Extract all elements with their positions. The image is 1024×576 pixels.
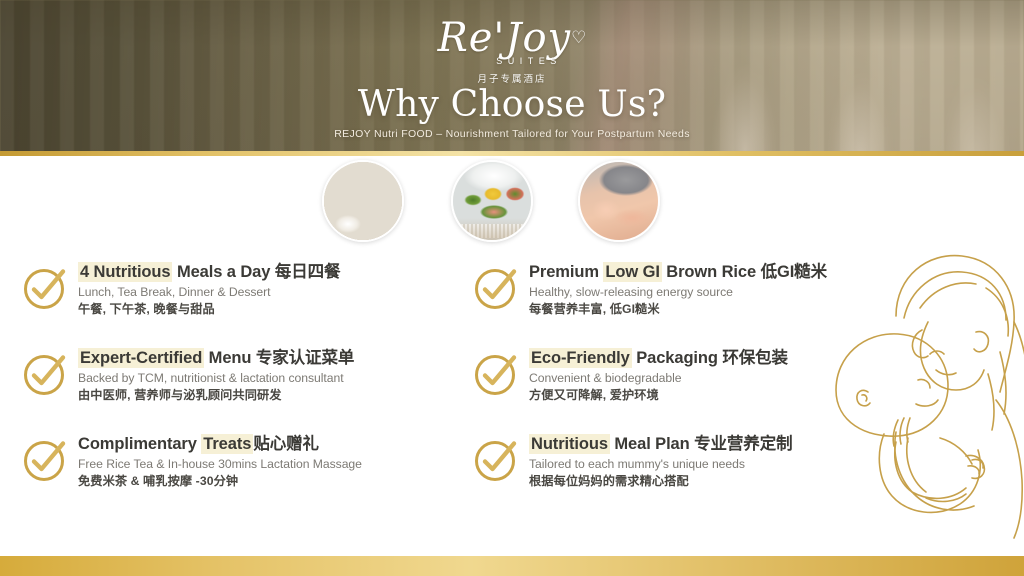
feature-title: Premium Low GI Brown Rice 低GI糙米 bbox=[529, 262, 923, 282]
feature-item-treats: Complimentary Treats贴心赠礼 Free Rice Tea &… bbox=[22, 434, 472, 520]
logo-suites-label: SUITES bbox=[0, 56, 1024, 66]
feature-title-highlight: Eco-Friendly bbox=[529, 348, 632, 368]
heart-icon: ♡ bbox=[571, 28, 586, 48]
check-circle-icon bbox=[473, 264, 519, 310]
photo-meal-tray bbox=[451, 160, 533, 242]
feature-title-prefix: Premium bbox=[529, 263, 603, 281]
logo-wordmark: Re'Joy♡ bbox=[0, 16, 1024, 60]
features-column-left: 4 Nutritious Meals a Day 每日四餐 Lunch, Tea… bbox=[22, 262, 472, 520]
feature-item-meal-plan: Nutritious Meal Plan 专业营养定制 Tailored to … bbox=[473, 434, 923, 520]
feature-title-rest: Brown Rice bbox=[662, 263, 761, 281]
feature-title-cn: 专家认证菜单 bbox=[256, 349, 354, 367]
feature-subtitle-cn: 方便又可降解, 爱护环境 bbox=[529, 387, 923, 404]
feature-title-highlight: 4 Nutritious bbox=[78, 262, 172, 282]
feature-item-meals: 4 Nutritious Meals a Day 每日四餐 Lunch, Tea… bbox=[22, 262, 472, 348]
check-circle-icon bbox=[473, 350, 519, 396]
feature-subtitle: Healthy, slow-releasing energy source bbox=[529, 284, 923, 300]
photo-meal-tray-image bbox=[453, 162, 531, 240]
feature-title: Nutritious Meal Plan 专业营养定制 bbox=[529, 434, 923, 454]
feature-title-cn: 环保包装 bbox=[722, 349, 788, 367]
feature-subtitle: Convenient & biodegradable bbox=[529, 370, 923, 386]
feature-subtitle: Tailored to each mummy's unique needs bbox=[529, 456, 923, 472]
feature-subtitle: Free Rice Tea & In-house 30mins Lactatio… bbox=[78, 456, 472, 472]
feature-title: Eco-Friendly Packaging 环保包装 bbox=[529, 348, 923, 368]
feature-item-packaging: Eco-Friendly Packaging 环保包装 Convenient &… bbox=[473, 348, 923, 434]
feature-title: Expert-Certified Menu 专家认证菜单 bbox=[78, 348, 472, 368]
check-circle-icon bbox=[473, 436, 519, 482]
bottom-gold-bar bbox=[0, 556, 1024, 576]
feature-title-cn: 贴心赠礼 bbox=[253, 435, 319, 453]
logo-text: Re'Joy bbox=[438, 15, 572, 61]
feature-title-cn: 低GI糙米 bbox=[761, 263, 827, 281]
feature-subtitle-cn: 由中医师, 营养师与泌乳顾问共同研发 bbox=[78, 387, 472, 404]
feature-subtitle-cn: 免费米茶 & 哺乳按摩 -30分钟 bbox=[78, 473, 472, 490]
feature-item-menu: Expert-Certified Menu 专家认证菜单 Backed by T… bbox=[22, 348, 472, 434]
photo-woman-eating-image bbox=[324, 162, 402, 240]
feature-subtitle-cn: 每餐营养丰富, 低GI糙米 bbox=[529, 301, 923, 318]
feature-title-prefix: Complimentary bbox=[78, 435, 201, 453]
check-circle-icon bbox=[22, 436, 68, 482]
feature-title-highlight: Nutritious bbox=[529, 434, 610, 454]
brand-logo: Re'Joy♡ SUITES 月子专属酒店 bbox=[0, 16, 1024, 85]
feature-title: 4 Nutritious Meals a Day 每日四餐 bbox=[78, 262, 472, 282]
feature-title-rest: Meals a Day bbox=[172, 263, 274, 281]
feature-title-highlight: Low GI bbox=[603, 262, 661, 282]
page-subtitle: REJOY Nutri FOOD – Nourishment Tailored … bbox=[0, 128, 1024, 140]
feature-title-rest: Menu bbox=[204, 349, 256, 367]
feature-title-cn: 专业营养定制 bbox=[694, 435, 792, 453]
feature-title-rest: Packaging bbox=[632, 349, 723, 367]
feature-item-brown-rice: Premium Low GI Brown Rice 低GI糙米 Healthy,… bbox=[473, 262, 923, 348]
features-column-right: Premium Low GI Brown Rice 低GI糙米 Healthy,… bbox=[473, 262, 923, 520]
check-circle-icon bbox=[22, 264, 68, 310]
photo-baby bbox=[578, 160, 660, 242]
photo-baby-image bbox=[580, 162, 658, 240]
feature-title-cn: 每日四餐 bbox=[275, 263, 341, 281]
logo-chinese-label: 月子专属酒店 bbox=[0, 71, 1024, 85]
feature-title: Complimentary Treats贴心赠礼 bbox=[78, 434, 472, 454]
feature-title-rest: Meal Plan bbox=[610, 435, 694, 453]
feature-subtitle-cn: 午餐, 下午茶, 晚餐与甜品 bbox=[78, 301, 472, 318]
page-title: Why Choose Us? bbox=[0, 84, 1024, 126]
feature-subtitle-cn: 根据每位妈妈的需求精心搭配 bbox=[529, 473, 923, 490]
feature-title-highlight: Treats bbox=[201, 434, 253, 454]
slide-why-choose-us: Re'Joy♡ SUITES 月子专属酒店 Why Choose Us? REJ… bbox=[0, 0, 1024, 576]
check-circle-icon bbox=[22, 350, 68, 396]
banner-gold-divider bbox=[0, 151, 1024, 156]
feature-title-highlight: Expert-Certified bbox=[78, 348, 204, 368]
feature-subtitle: Backed by TCM, nutritionist & lactation … bbox=[78, 370, 472, 386]
photo-woman-eating bbox=[322, 160, 404, 242]
feature-subtitle: Lunch, Tea Break, Dinner & Dessert bbox=[78, 284, 472, 300]
